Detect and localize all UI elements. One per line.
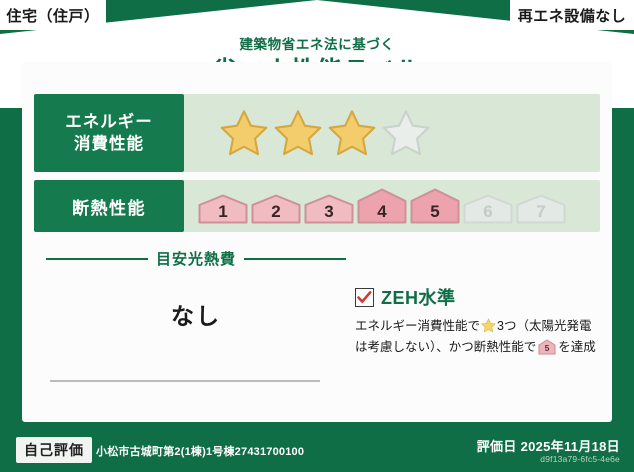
insulation-level-4: 4 — [357, 188, 407, 224]
utility-cost-heading: 目安光熱費 — [46, 248, 346, 269]
energy-performance-row: エネルギー 消費性能 — [34, 94, 600, 172]
header-subtitle: 建築物省エネ法に基づく — [0, 38, 634, 52]
evaluation-date-label: 評価日 — [477, 439, 517, 454]
zeh-desc-part4: を達成 — [558, 340, 596, 354]
check-icon — [357, 291, 372, 304]
star-filled-icon — [219, 108, 269, 158]
insulation-level-2: 2 — [251, 194, 301, 224]
zeh-heading: ZEH水準 — [355, 284, 600, 310]
zeh-description: エネルギー消費性能で3つ（太陽光発電は考慮しない）、かつ断熱性能で5を達成 — [355, 316, 600, 357]
utility-cost-value: なし — [46, 297, 346, 331]
property-address: 小松市古城町第2(1棟)1号棟27431700100 — [96, 443, 304, 459]
evaluation-type-badge: 自己評価 — [16, 437, 92, 463]
label-uid: d9f13a79-6fc5-4e6e — [540, 454, 620, 464]
insulation-level-value: 3 — [324, 202, 333, 221]
zeh-desc-part3: は考慮しない）、かつ断熱性能で — [355, 340, 536, 354]
insulation-level-7: 7 — [516, 194, 566, 224]
insulation-level-value: 5 — [430, 202, 439, 221]
star-empty-icon — [381, 108, 431, 158]
energy-performance-label-line2: 消費性能 — [74, 133, 144, 155]
energy-label-root: 住宅（住戸） 再エネ設備なし 建築物省エネ法に基づく 省エネ性能ラベル エネルギ… — [0, 0, 634, 472]
tab-renewable-energy-label: 再エネ設備なし — [518, 5, 627, 26]
zeh-desc-part1: エネルギー消費性能で — [355, 319, 480, 333]
star-icon — [481, 318, 496, 333]
insulation-performance-label-text: 断熱性能 — [72, 194, 146, 219]
star-filled-icon — [273, 108, 323, 158]
insulation-level-3: 3 — [304, 194, 354, 224]
insulation-level-value: 1 — [218, 202, 227, 221]
zeh-block: ZEH水準 エネルギー消費性能で3つ（太陽光発電は考慮しない）、かつ断熱性能で5… — [355, 284, 600, 357]
insulation-performance-label: 断熱性能 — [34, 180, 184, 232]
insulation-level-value: 4 — [377, 202, 387, 221]
star-filled-icon — [327, 108, 377, 158]
insulation-level-1: 1 — [198, 194, 248, 224]
energy-performance-label-line1: エネルギー — [65, 111, 153, 133]
energy-performance-label: エネルギー 消費性能 — [34, 94, 184, 172]
insulation-performance-row: 断熱性能 1234567 — [34, 180, 600, 232]
insulation-level-value: 2 — [271, 202, 280, 221]
label-card: エネルギー 消費性能 断熱性能 1234567 目安光熱費 なし — [22, 62, 612, 422]
insulation-level-value: 6 — [483, 202, 492, 221]
svg-text:5: 5 — [545, 343, 550, 353]
insulation-level-scale: 1234567 — [198, 188, 566, 224]
insulation-badge-icon: 5 — [538, 339, 556, 355]
utility-cost-rule-right — [244, 258, 346, 260]
evaluation-date-value: 2025年11月18日 — [521, 439, 620, 454]
zeh-title: ZEH水準 — [381, 284, 456, 310]
zeh-desc-part2: 3つ（太陽光発電 — [497, 319, 591, 333]
insulation-level-5: 5 — [410, 188, 460, 224]
tab-building-type-label: 住宅（住戸） — [6, 5, 99, 26]
utility-cost-heading-text: 目安光熱費 — [156, 248, 236, 269]
footer: 自己評価 小松市古城町第2(1棟)1号棟27431700100 評価日 2025… — [0, 428, 634, 472]
insulation-level-6: 6 — [463, 194, 513, 224]
utility-cost-rule-left — [46, 258, 148, 260]
evaluation-date: 評価日 2025年11月18日 — [477, 436, 620, 455]
zeh-checkbox[interactable] — [355, 288, 374, 307]
utility-cost-block: 目安光熱費 なし — [46, 248, 346, 331]
utility-cost-bottom-rule — [50, 380, 320, 382]
energy-star-rating — [219, 108, 431, 158]
insulation-level-value: 7 — [536, 202, 545, 221]
